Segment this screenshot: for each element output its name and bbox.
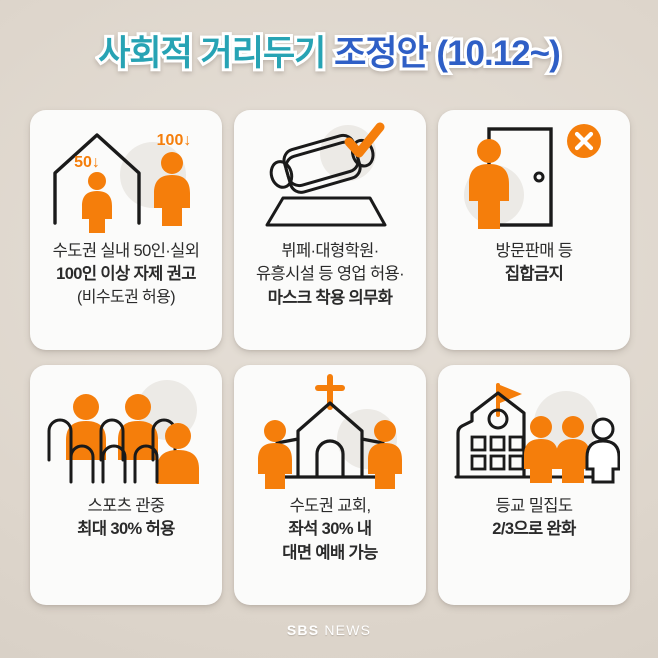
caption-line: 수도권 교회, [290,495,371,518]
x-badge [567,124,601,158]
page-title: 사회적 거리두기 조정안 (10.12~) [0,33,658,75]
card-caption: 스포츠 관중 최대 30% 허용 [30,493,222,605]
school-icon [438,365,630,493]
house-with-people-icon: 50↓ 100↓ [30,110,222,238]
card-caption: 등교 밀집도 2/3으로 완화 [438,493,630,605]
caption-line: (비수도권 허용) [77,287,175,310]
caption-line: 2/3으로 완화 [492,518,575,541]
caption-line: 뷔페·대형학원· [281,240,378,263]
caption-line: 최대 30% 허용 [77,518,175,541]
caption-line: 방문판매 등 [496,240,573,263]
card-caption: 뷔페·대형학원· 유흥시설 등 영업 허용· 마스크 착용 의무화 [234,238,426,350]
card-business-allowed-mask-required: 뷔페·대형학원· 유흥시설 등 영업 허용· 마스크 착용 의무화 [234,110,426,350]
card-church-worship: 수도권 교회, 좌석 30% 내 대면 예배 가능 [234,365,426,605]
card-school-density: 등교 밀집도 2/3으로 완화 [438,365,630,605]
stadium-seats-icon [30,365,222,493]
title-part-adjustment: 조정안 (10.12~) [334,34,560,73]
mask-on-table-icon [234,110,426,238]
caption-line: 대면 예배 가능 [282,542,377,565]
card-door-to-door-sales-ban: 방문판매 등 집합금지 [438,110,630,350]
card-metro-gathering-limit: 50↓ 100↓ 수도권 실내 50인·실외 100인 이상 자제 권고 (비수… [30,110,222,350]
caption-line: 좌석 30% 내 [289,518,372,541]
caption-line: 마스크 착용 의무화 [268,287,393,310]
caption-line: 수도권 실내 50인·실외 [53,240,200,263]
infographic-page: 사회적 거리두기 조정안 (10.12~) 50↓ 100↓ [0,0,658,658]
indoor-limit-label: 50↓ [74,154,100,171]
card-caption: 방문판매 등 집합금지 [438,238,630,350]
card-caption: 수도권 교회, 좌석 30% 내 대면 예배 가능 [234,493,426,605]
brand-news: NEWS [319,622,371,638]
card-sports-spectators: 스포츠 관중 최대 30% 허용 [30,365,222,605]
title-part-social-distancing: 사회적 거리두기 [98,34,325,73]
person-at-door-icon [438,110,630,238]
card-grid: 50↓ 100↓ 수도권 실내 50인·실외 100인 이상 자제 권고 (비수… [30,110,630,605]
church-icon [234,365,426,493]
caption-line: 등교 밀집도 [496,495,573,518]
card-caption: 수도권 실내 50인·실외 100인 이상 자제 권고 (비수도권 허용) [30,238,222,350]
brand-sbs: SBS [287,622,319,638]
outdoor-limit-label: 100↓ [157,132,192,149]
caption-line: 유흥시설 등 영업 허용· [256,263,404,286]
footer: SBS NEWS [0,622,658,640]
caption-line: 100인 이상 자제 권고 [56,263,196,286]
sbs-news-logo: SBS NEWS [287,622,371,638]
caption-line: 스포츠 관중 [88,495,165,518]
caption-line: 집합금지 [505,263,563,286]
